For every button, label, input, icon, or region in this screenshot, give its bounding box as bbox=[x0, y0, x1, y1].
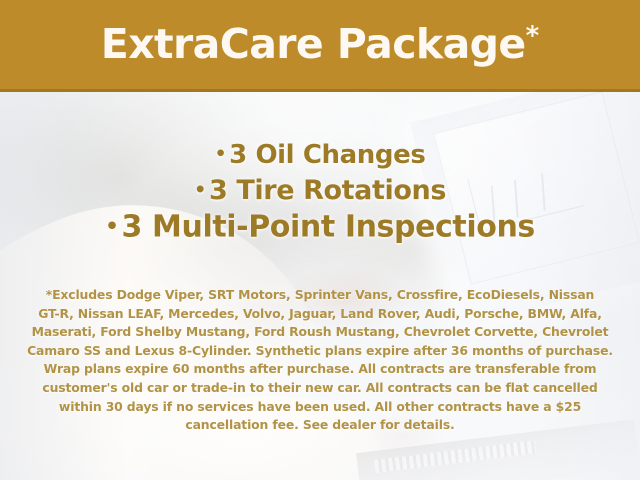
benefit-item-label: 3 Oil Changes bbox=[229, 140, 425, 170]
bullet-icon: • bbox=[105, 214, 118, 239]
disclaimer-line: within 30 days if no services have been … bbox=[20, 398, 620, 417]
bullet-icon: • bbox=[194, 178, 206, 201]
disclaimer-line: *Excludes Dodge Viper, SRT Motors, Sprin… bbox=[20, 286, 620, 305]
benefit-item-multi-point-inspections: •3 Multi-Point Inspections bbox=[0, 208, 640, 246]
disclaimer-line: customer's old car or trade-in to their … bbox=[20, 379, 620, 398]
disclaimer-line: Maserati, Ford Shelby Mustang, Ford Rous… bbox=[20, 323, 620, 342]
page-title-text: ExtraCare Package bbox=[101, 20, 526, 68]
disclaimer-line: cancellation fee. See dealer for details… bbox=[20, 416, 620, 435]
benefit-item-oil-changes: •3 Oil Changes bbox=[0, 138, 640, 172]
disclaimer-line: GT-R, Nissan LEAF, Mercedes, Volvo, Jagu… bbox=[20, 305, 620, 324]
page-title-asterisk: * bbox=[526, 21, 540, 51]
extracare-package-promo-card: ExtraCare Package* •3 Oil Changes •3 Tir… bbox=[0, 0, 640, 480]
page-title: ExtraCare Package* bbox=[101, 23, 539, 65]
benefits-list: •3 Oil Changes •3 Tire Rotations •3 Mult… bbox=[0, 138, 640, 247]
bullet-icon: • bbox=[215, 144, 227, 165]
header-banner: ExtraCare Package* bbox=[0, 0, 640, 92]
benefit-item-label: 3 Multi-Point Inspections bbox=[122, 210, 535, 245]
benefit-item-tire-rotations: •3 Tire Rotations bbox=[0, 172, 640, 208]
disclaimer-text: *Excludes Dodge Viper, SRT Motors, Sprin… bbox=[20, 286, 620, 435]
disclaimer-line: Camaro SS and Lexus 8-Cylinder. Syntheti… bbox=[20, 342, 620, 361]
disclaimer-line: Wrap plans expire 60 months after purcha… bbox=[20, 360, 620, 379]
benefit-item-label: 3 Tire Rotations bbox=[209, 175, 446, 206]
